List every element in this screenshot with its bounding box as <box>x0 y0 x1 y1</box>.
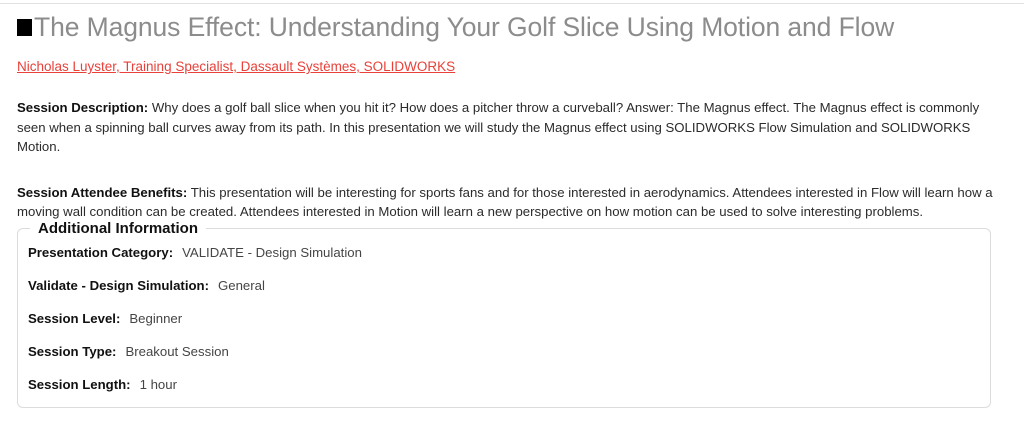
additional-information-legend: Additional Information <box>30 220 206 237</box>
session-description-text: Why does a golf ball slice when you hit … <box>17 100 979 154</box>
session-attendee-benefits: Session Attendee Benefits: This presenta… <box>0 183 1022 222</box>
info-row-presentation-category: Presentation Category: VALIDATE - Design… <box>28 245 990 278</box>
additional-information-panel: Additional Information Presentation Cate… <box>17 220 991 408</box>
info-value-session-length: 1 hour <box>140 377 177 392</box>
info-row-validate-design-simulation: Validate - Design Simulation: General <box>28 278 990 311</box>
info-value-session-type: Breakout Session <box>125 344 228 359</box>
info-value-validate-design-simulation: General <box>218 278 265 293</box>
presenter-link[interactable]: Nicholas Luyster, Training Specialist, D… <box>17 59 455 74</box>
info-label-session-type: Session Type: <box>28 344 116 359</box>
session-detail-page: The Magnus Effect: Understanding Your Go… <box>0 0 1024 222</box>
additional-information-rows: Presentation Category: VALIDATE - Design… <box>18 237 990 410</box>
info-value-session-level: Beginner <box>129 311 182 326</box>
info-value-presentation-category: VALIDATE - Design Simulation <box>182 245 362 260</box>
author-line: Nicholas Luyster, Training Specialist, D… <box>0 45 1024 76</box>
page-title: The Magnus Effect: Understanding Your Go… <box>0 0 1024 45</box>
broken-image-icon <box>17 19 32 36</box>
info-label-session-length: Session Length: <box>28 377 131 392</box>
session-benefits-label: Session Attendee Benefits: <box>17 185 187 200</box>
info-label-session-level: Session Level: <box>28 311 120 326</box>
session-description: Session Description: Why does a golf bal… <box>0 98 1022 157</box>
info-row-session-level: Session Level: Beginner <box>28 311 990 344</box>
info-row-session-type: Session Type: Breakout Session <box>28 344 990 377</box>
page-title-text: The Magnus Effect: Understanding Your Go… <box>34 14 894 41</box>
info-label-validate-design-simulation: Validate - Design Simulation: <box>28 278 209 293</box>
session-description-label: Session Description: <box>17 100 148 115</box>
info-label-presentation-category: Presentation Category: <box>28 245 173 260</box>
info-row-session-length: Session Length: 1 hour <box>28 377 990 410</box>
